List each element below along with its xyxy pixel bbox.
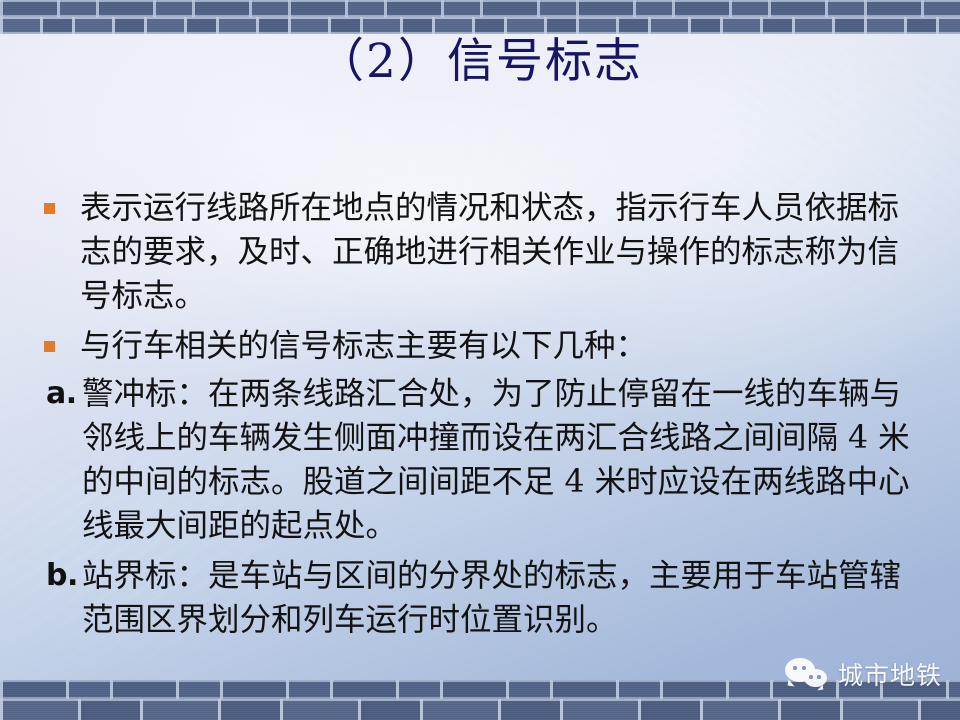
lettered-paragraph-b: b. 站界标：是车站与区间的分界处的标志，主要用于车站管辖范围区界划分和列车运行…: [36, 554, 920, 642]
square-bullet-icon: [44, 203, 55, 214]
paragraph-text: 站界标：是车站与区间的分界处的标志，主要用于车站管辖范围区界划分和列车运行时位置…: [82, 554, 920, 642]
paragraph-text: 表示运行线路所在地点的情况和状态，指示行车人员依据标志的要求，及时、正确地进行相…: [80, 186, 920, 318]
bullet-paragraph: 表示运行线路所在地点的情况和状态，指示行车人员依据标志的要求，及时、正确地进行相…: [36, 186, 920, 318]
brick-border-bottom: [0, 680, 960, 720]
content-body: 表示运行线路所在地点的情况和状态，指示行车人员依据标志的要求，及时、正确地进行相…: [36, 186, 920, 642]
bullet-paragraph: 与行车相关的信号标志主要有以下几种：: [36, 324, 920, 368]
slide-canvas: （2）信号标志 表示运行线路所在地点的情况和状态，指示行车人员依据标志的要求，及…: [0, 0, 960, 720]
brick-row: [0, 0, 960, 17]
page-title: （2）信号标志: [0, 36, 960, 89]
wechat-icon: [785, 658, 829, 690]
brick-row: [0, 699, 960, 720]
paragraph-text: 与行车相关的信号标志主要有以下几种：: [80, 324, 920, 368]
brick-row: [0, 17, 960, 34]
brick-row: [0, 680, 960, 699]
lettered-paragraph-a: a. 警冲标：在两条线路汇合处，为了防止停留在一线的车辆与邻线上的车辆发生侧面冲…: [36, 372, 920, 548]
list-marker: b.: [46, 554, 78, 598]
wechat-watermark: 城市地铁: [785, 656, 942, 692]
paragraph-text: 警冲标：在两条线路汇合处，为了防止停留在一线的车辆与邻线上的车辆发生侧面冲撞而设…: [82, 372, 920, 548]
square-bullet-icon: [44, 341, 55, 352]
brick-border-top: [0, 0, 960, 34]
watermark-brand-text: 城市地铁: [838, 656, 942, 692]
list-marker: a.: [46, 372, 77, 416]
